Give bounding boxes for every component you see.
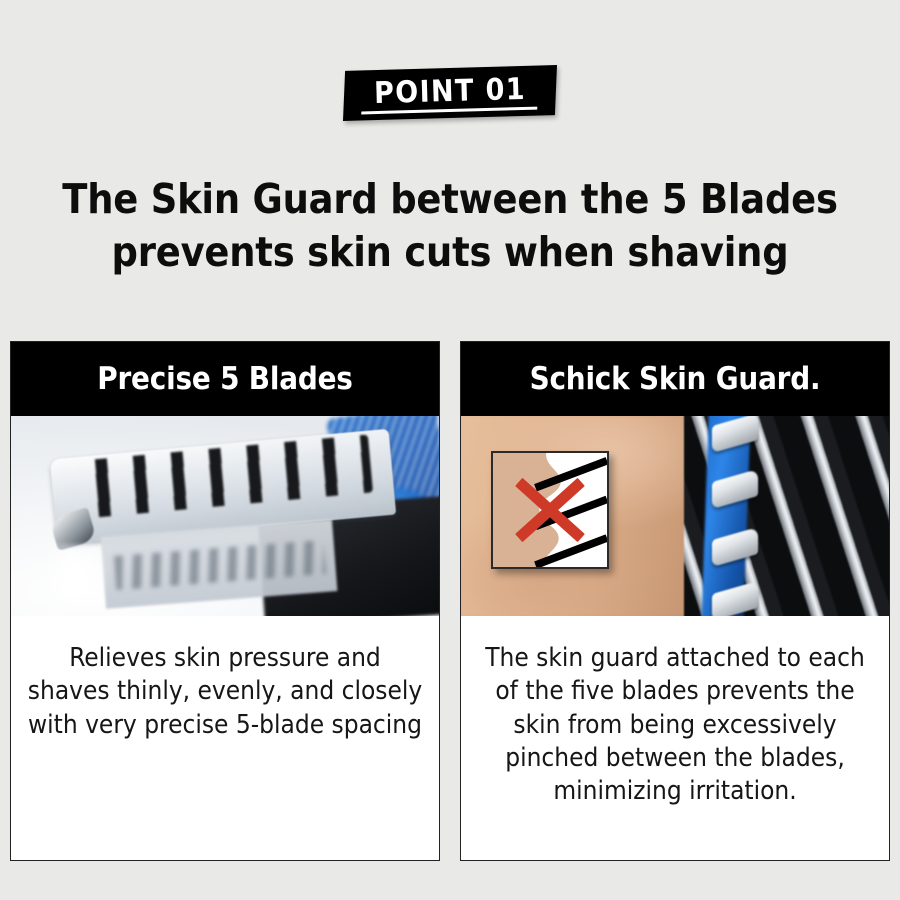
card-caption-schick-skin-guard: The skin guard attached to each of the f… bbox=[461, 616, 889, 860]
page-title-line-2: prevents skin cuts when shaving bbox=[0, 226, 900, 278]
skin-guard-blades-on-skin-photo bbox=[461, 416, 889, 616]
no-pinch-warning-diagram bbox=[491, 451, 609, 569]
point-badge-container: POINT 01 bbox=[0, 58, 900, 128]
feature-card-list: Precise 5 Blades Relieves skin pressure … bbox=[10, 341, 890, 861]
point-badge-label: POINT 01 bbox=[374, 75, 527, 109]
page-title-line-1: The Skin Guard between the 5 Blades bbox=[0, 173, 900, 225]
page-title: The Skin Guard between the 5 Blades prev… bbox=[0, 173, 900, 277]
feature-card-schick-skin-guard: Schick Skin Guard. bbox=[460, 341, 890, 861]
feature-card-precise-5-blades: Precise 5 Blades Relieves skin pressure … bbox=[10, 341, 440, 861]
photo-highlight-glow bbox=[39, 544, 109, 616]
point-badge: POINT 01 bbox=[343, 65, 557, 121]
razor-cartridge-macro-photo bbox=[11, 416, 439, 616]
card-caption-precise-5-blades: Relieves skin pressure and shaves thinly… bbox=[11, 616, 439, 860]
red-x-icon bbox=[493, 453, 607, 567]
card-header-schick-skin-guard: Schick Skin Guard. bbox=[461, 342, 889, 416]
card-header-precise-5-blades: Precise 5 Blades bbox=[11, 342, 439, 416]
